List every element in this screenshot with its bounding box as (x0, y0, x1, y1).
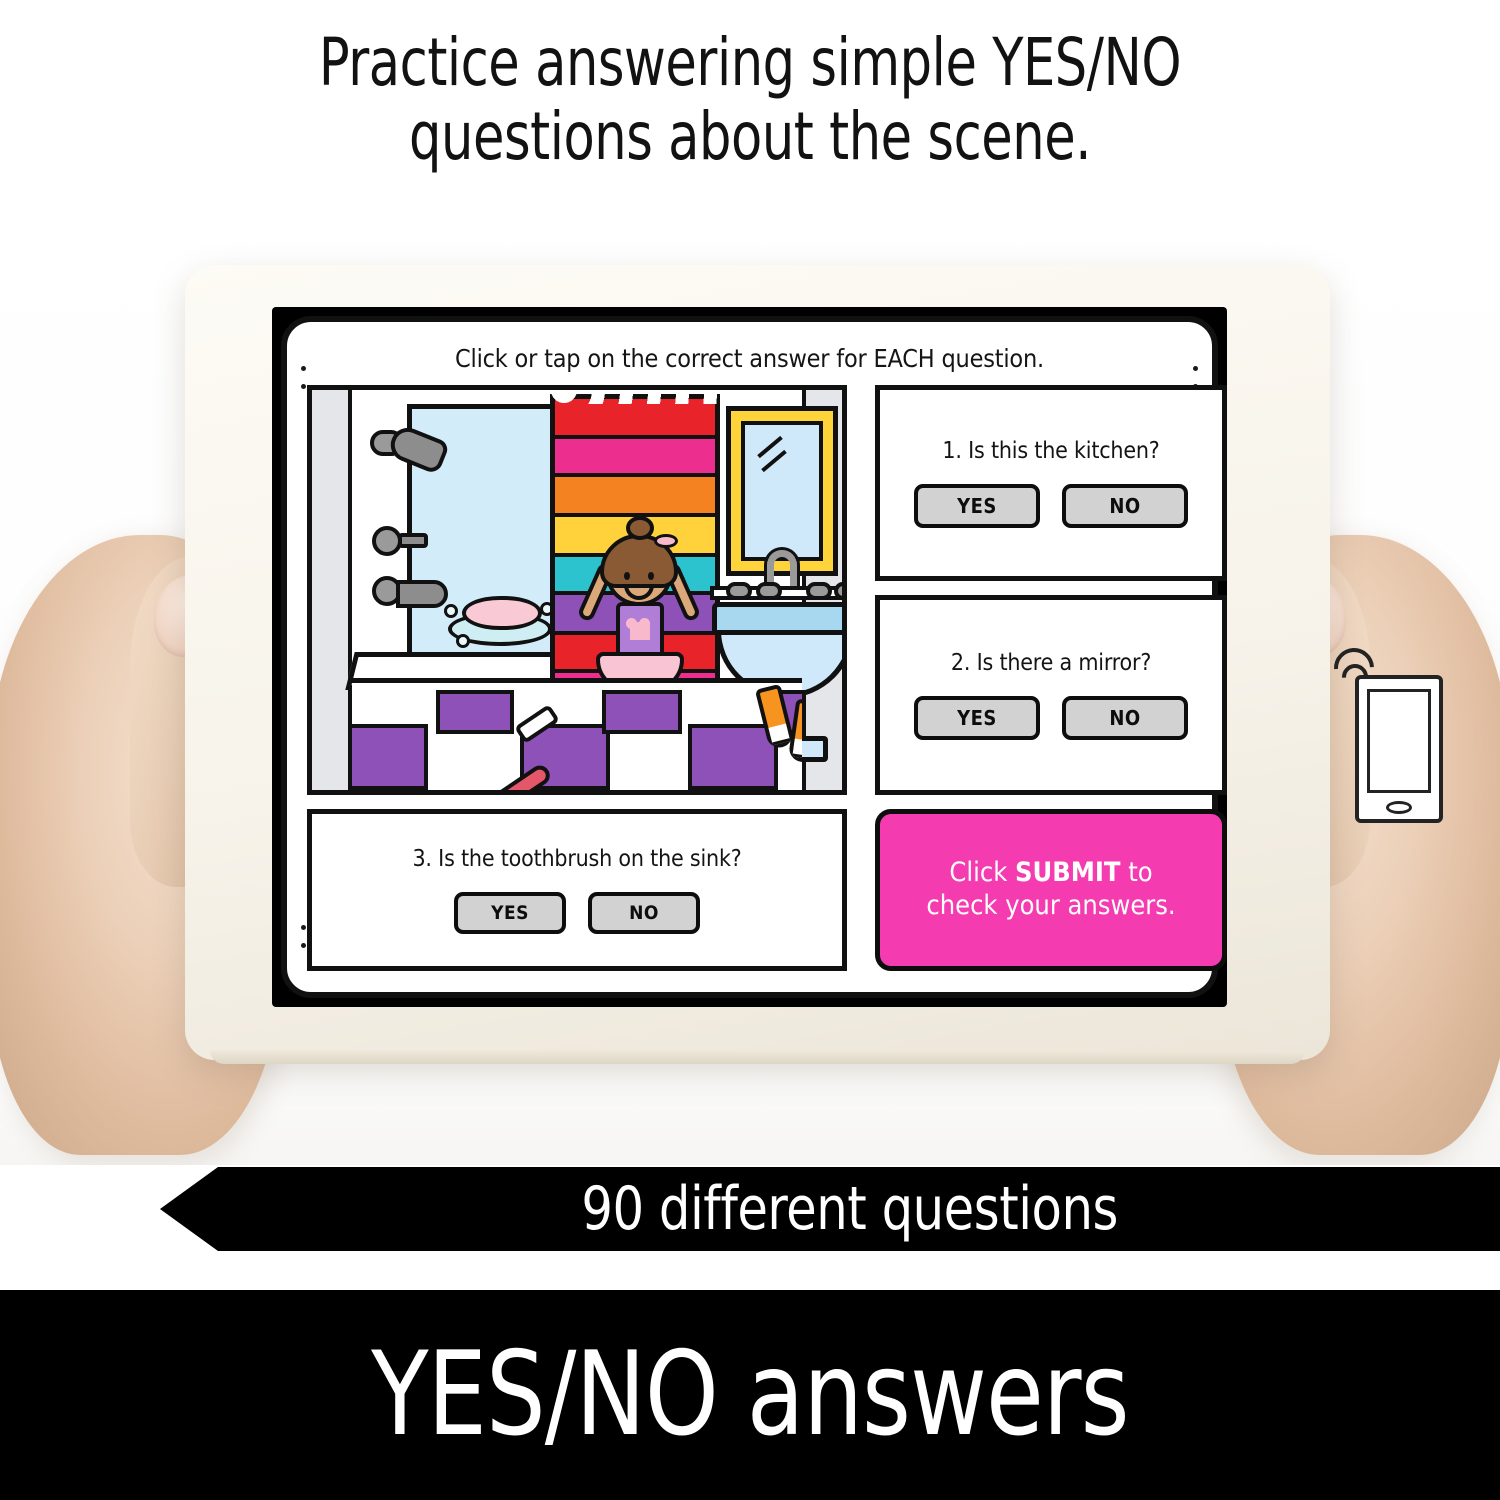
question-2-yes-button[interactable]: YES (914, 696, 1040, 740)
tap-left-2 (756, 582, 782, 600)
soap-bar (462, 596, 542, 630)
question-3-yes-button[interactable]: YES (454, 892, 566, 934)
question-1-text: 1. Is this the kitchen? (942, 438, 1159, 464)
slide-inner: Click or tap on the correct answer for E… (281, 316, 1218, 998)
submit-line1-post: to (1121, 857, 1153, 888)
question-card-1: 1. Is this the kitchen? YES NO (875, 385, 1227, 581)
question-3-buttons: YES NO (454, 892, 700, 934)
tap-right (806, 582, 832, 600)
phone-home-button-icon (1386, 801, 1412, 814)
question-2-text: 2. Is there a mirror? (951, 650, 1151, 676)
tablet-phone-icon (1355, 675, 1443, 823)
slide-grid: 1. Is this the kitchen? YES NO 2. Is the… (307, 385, 1192, 971)
submit-keyword: SUBMIT (1015, 857, 1121, 888)
question-1-buttons: YES NO (914, 484, 1188, 528)
submit-button[interactable]: Click SUBMIT to check your answers. (875, 809, 1227, 971)
question-2-buttons: YES NO (914, 696, 1188, 740)
girl-hair-bun (626, 516, 654, 540)
shower-knob-stem (398, 533, 428, 548)
bathroom-floor (352, 678, 802, 790)
page-title: Practice answering simple YES/NO questio… (105, 26, 1395, 174)
question-1-yes-button[interactable]: YES (914, 484, 1040, 528)
submit-line1-pre: Click (949, 857, 1015, 888)
curtain-scallop (550, 390, 720, 404)
page-root: Practice answering simple YES/NO questio… (0, 0, 1500, 1500)
phone-screen (1367, 689, 1431, 793)
bathroom-scene-image (307, 385, 847, 795)
question-count-banner: 90 different questions (160, 1167, 1500, 1251)
hair-bow-icon (654, 534, 678, 548)
question-card-3: 3. Is the toothbrush on the sink? YES NO (307, 809, 847, 971)
footer-title: YES/NO answers (371, 1337, 1129, 1453)
question-2-no-button[interactable]: NO (1062, 696, 1188, 740)
question-card-2: 2. Is there a mirror? YES NO (875, 595, 1227, 795)
tub-spout (396, 580, 448, 608)
left-wall (312, 390, 352, 790)
question-3-no-button[interactable]: NO (588, 892, 700, 934)
slide-instruction: Click or tap on the correct answer for E… (307, 344, 1192, 373)
tap-left (726, 582, 752, 600)
tap-right-2 (834, 582, 847, 600)
mirror-glass (741, 421, 823, 561)
question-count-text: 90 different questions (582, 1174, 1119, 1244)
product-photo: Click or tap on the correct answer for E… (0, 205, 1500, 1165)
question-3-text: 3. Is the toothbrush on the sink? (412, 846, 741, 872)
activity-slide: Click or tap on the correct answer for E… (272, 307, 1227, 1007)
question-1-no-button[interactable]: NO (1062, 484, 1188, 528)
footer-banner: YES/NO answers (0, 1290, 1500, 1500)
tablet-bottom-edge (210, 1050, 1305, 1064)
submit-line2: check your answers. (926, 890, 1175, 921)
heart-icon (630, 622, 650, 640)
